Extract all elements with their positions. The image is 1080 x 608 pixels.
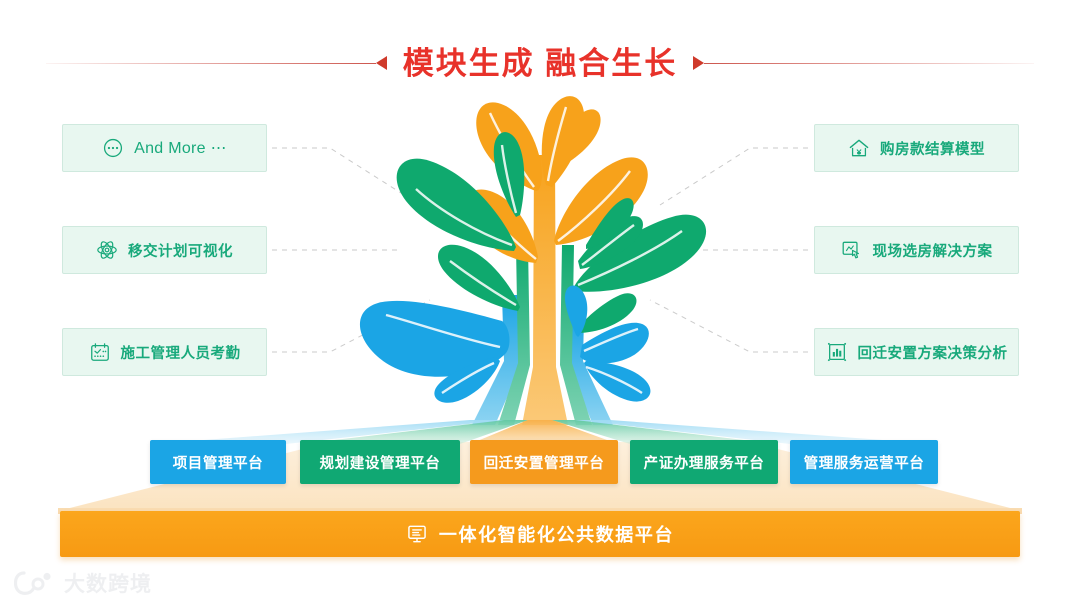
calendar-check-icon <box>89 341 111 363</box>
platform-card-row: 项目管理平台 规划建设管理平台 回迁安置管理平台 产证办理服务平台 管理服务运营… <box>0 440 1080 488</box>
feature-chip-label: And More ⋯ <box>134 138 227 158</box>
right-triangle-icon <box>693 56 704 70</box>
stem-orange-center <box>522 155 568 425</box>
bar-chart-frame-icon <box>826 341 848 363</box>
watermark-text: 大数跨境 <box>64 568 152 598</box>
more-dots-circle-icon <box>102 137 124 159</box>
atom-icon <box>96 239 118 261</box>
feature-chip-and-more[interactable]: And More ⋯ <box>62 124 267 172</box>
house-yuan-icon <box>848 137 870 159</box>
infographic-canvas: 模块生成 融合生长 <box>0 0 1080 608</box>
feature-chip-label: 购房款结算模型 <box>880 138 985 159</box>
feature-chip-handover-plan[interactable]: 移交计划可视化 <box>62 226 267 274</box>
platform-card-label: 项目管理平台 <box>173 452 264 473</box>
platform-card-label: 规划建设管理平台 <box>320 452 441 473</box>
feature-chip-label: 移交计划可视化 <box>128 240 233 261</box>
platform-card[interactable]: 回迁安置管理平台 <box>470 440 618 484</box>
platform-card[interactable]: 规划建设管理平台 <box>300 440 460 484</box>
feature-chip-purchase-settlement[interactable]: 购房款结算模型 <box>814 124 1019 172</box>
feature-chip-onsite-selection[interactable]: 现场选房解决方案 <box>814 226 1019 274</box>
title-rule-right <box>704 63 1034 64</box>
platform-card[interactable]: 产证办理服务平台 <box>630 440 778 484</box>
foundation-label: 一体化智能化公共数据平台 <box>439 521 674 547</box>
platform-card[interactable]: 管理服务运营平台 <box>790 440 938 484</box>
platform-card[interactable]: 项目管理平台 <box>150 440 286 484</box>
page-title: 模块生成 融合生长 <box>403 48 678 79</box>
title-rule-left <box>46 63 376 64</box>
feature-chip-label: 现场选房解决方案 <box>873 240 993 261</box>
feature-chip-label: 施工管理人员考勤 <box>121 342 241 363</box>
foundation-bar[interactable]: 一体化智能化公共数据平台 <box>60 511 1020 557</box>
platform-card-label: 产证办理服务平台 <box>644 452 765 473</box>
page-title-row: 模块生成 融合生长 <box>0 40 1080 86</box>
watermark: 大数跨境 <box>14 568 152 598</box>
growing-plant-illustration <box>290 95 790 425</box>
feature-chip-label: 回迁安置方案决策分析 <box>858 342 1008 363</box>
screen-hand-icon <box>841 239 863 261</box>
left-triangle-icon <box>376 56 387 70</box>
feature-chip-resettlement-analysis[interactable]: 回迁安置方案决策分析 <box>814 328 1019 376</box>
platform-card-label: 回迁安置管理平台 <box>484 452 605 473</box>
dashu-kuajing-logo-icon <box>14 570 56 596</box>
feature-chip-attendance[interactable]: 施工管理人员考勤 <box>62 328 267 376</box>
platform-card-label: 管理服务运营平台 <box>804 452 925 473</box>
monitor-data-icon <box>406 523 428 545</box>
